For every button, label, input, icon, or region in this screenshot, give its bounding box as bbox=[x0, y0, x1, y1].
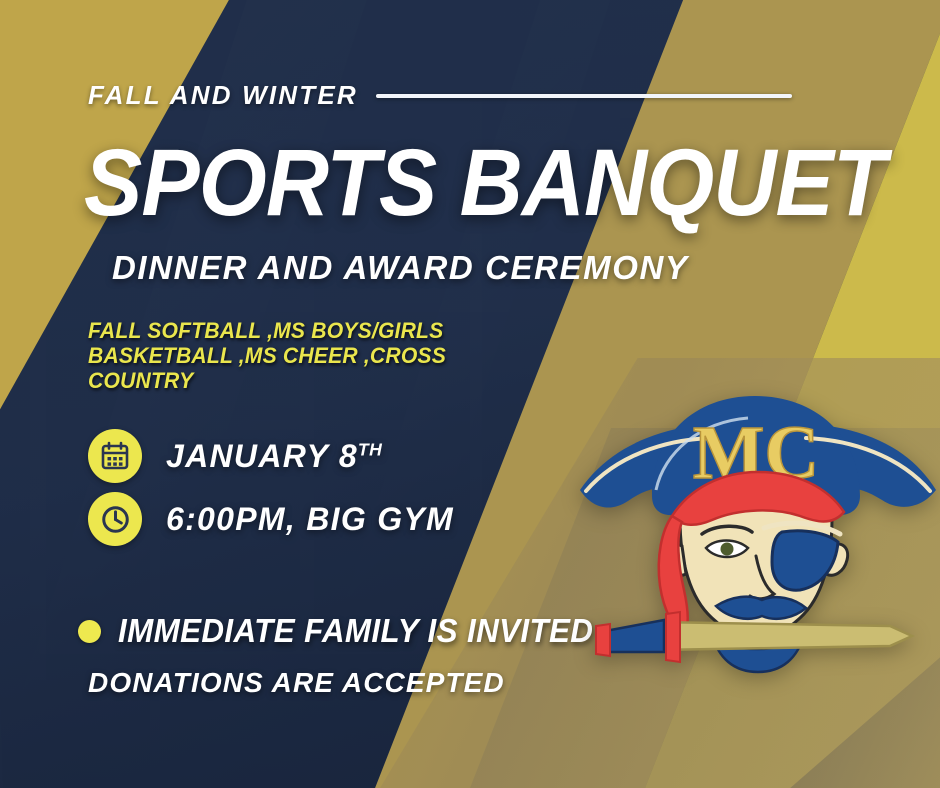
mascot-eye-patch bbox=[772, 531, 838, 590]
invite-row: IMMEDIATE FAMILY IS INVITED bbox=[78, 612, 618, 650]
page-subtitle: DINNER AND AWARD CEREMONY bbox=[112, 249, 689, 287]
horizontal-rule bbox=[376, 94, 792, 98]
mascot-sword-guard bbox=[666, 612, 680, 662]
detail-row-date: JANUARY 8TH bbox=[88, 429, 382, 483]
pirate-mascot-logo: MC bbox=[560, 350, 940, 700]
mascot-moustache bbox=[716, 597, 806, 619]
event-date-ordinal: TH bbox=[358, 439, 382, 459]
event-date-text: JANUARY 8TH bbox=[166, 438, 382, 475]
mascot-pupil bbox=[721, 543, 734, 556]
eyebrow-row: FALL AND WINTER bbox=[88, 80, 792, 111]
clock-icon bbox=[88, 492, 142, 546]
event-date-label: JANUARY 8 bbox=[166, 438, 358, 474]
mascot-sword-pommel bbox=[596, 624, 610, 656]
bullet-dot-icon bbox=[78, 620, 101, 643]
donations-text: DONATIONS ARE ACCEPTED bbox=[88, 667, 505, 699]
detail-row-time: 6:00PM, BIG GYM bbox=[88, 492, 454, 546]
sports-banquet-flyer: FALL AND WINTER SPORTS BANQUET DINNER AN… bbox=[0, 0, 940, 788]
eyebrow-text: FALL AND WINTER bbox=[88, 80, 358, 111]
invite-text: IMMEDIATE FAMILY IS INVITED bbox=[118, 612, 593, 650]
page-title: SPORTS BANQUET bbox=[84, 137, 802, 230]
sports-list: FALL SOFTBALL ,MS BOYS/GIRLS BASKETBALL … bbox=[88, 318, 539, 393]
calendar-icon bbox=[88, 429, 142, 483]
event-time-text: 6:00PM, BIG GYM bbox=[166, 501, 454, 538]
